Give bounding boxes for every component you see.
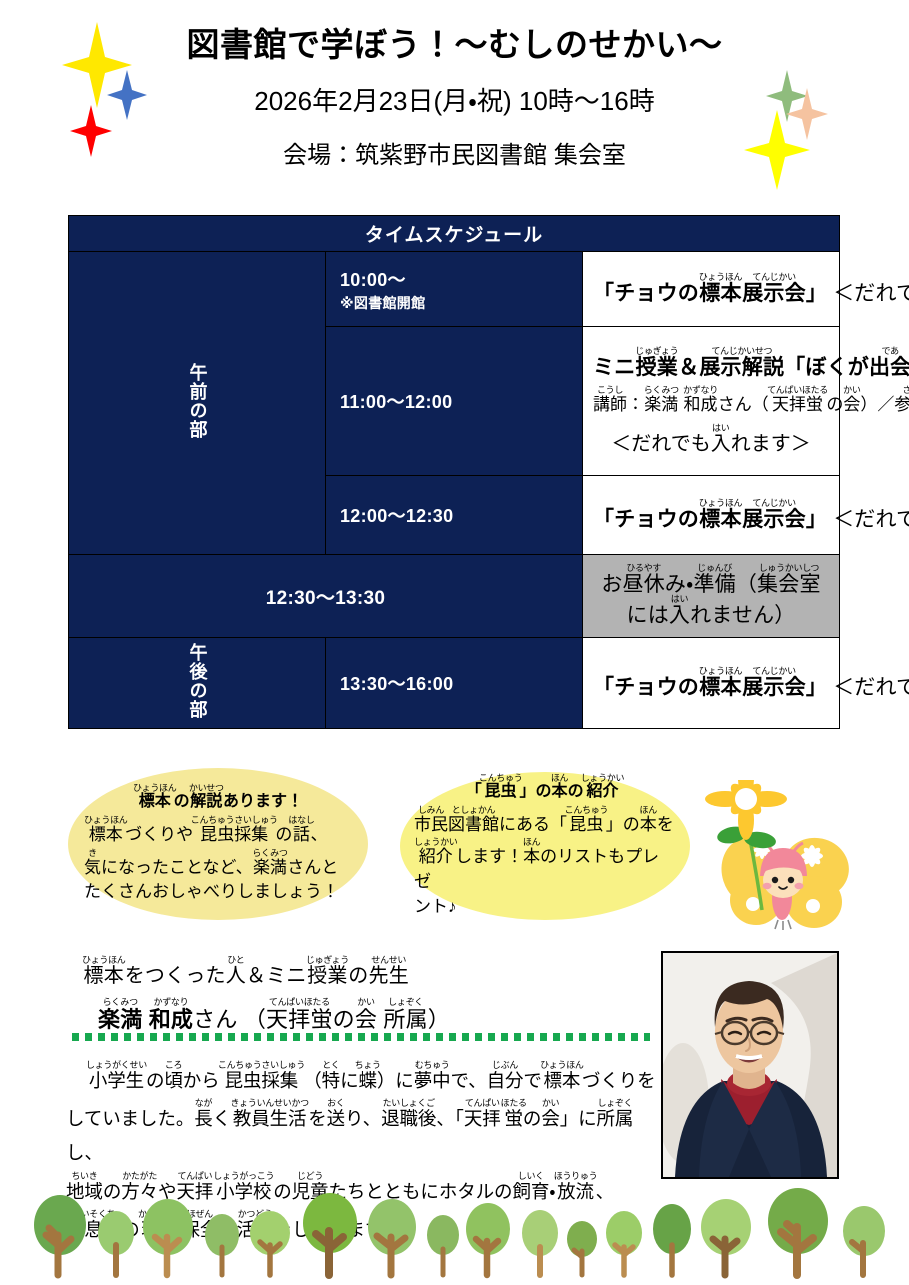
- event-date: 2026年2月23日(月・祝) 10時～16時: [0, 81, 909, 118]
- bubble-1-line-3: たくさんおしゃべりしましょう！: [84, 880, 352, 905]
- content-cell-3: 「チョウの標本ひょうほん展示会てんじかい」 ＜だれでも入はいれます＞: [583, 476, 840, 555]
- exhibit-title-2: 「チョウの標本ひょうほん展示会てんじかい」 ＜だれでも入はいれます＞: [593, 498, 829, 533]
- info-bubble-books: 「昆虫こんちゅう」の本ほんの紹介しょうかい 市民しみん図書館としょかんにある「昆…: [400, 772, 690, 920]
- instructor-role: 標本ひょうほんをつくった人ひと＆ミニ授業じゅぎょうの先生せんせい: [78, 955, 638, 988]
- bubble-2-line-1: 市民しみん図書館としょかんにある「昆虫こんちゅう」の本ほんを: [414, 805, 676, 838]
- instructor-name: 楽満らくみつ 和成かずなりさん （天拝蛍てんぱいほたるの会かい 所属しょぞく）: [78, 997, 638, 1034]
- table-row: 午前の部 10:00～ ※図書館開館 「チョウの標本ひょうほん展示会てんじかい」…: [69, 252, 840, 327]
- lunch-break-text: お昼休ひるやすみ・準備じゅんび（集会室しゅうかいしつには入はいれません）: [593, 563, 829, 629]
- bio-line-2: していました。長ながく教員生活きょういんせいかつを送おくり、退職後たいしょくご、…: [66, 1098, 656, 1170]
- bubble-2-line-3: ント♪: [414, 895, 676, 920]
- bubble-1-line-2: 気きになったことなど、楽満らくみつさんと: [84, 848, 352, 881]
- bubble-1-line-1: 標本ひょうほんづくりや昆虫採集こんちゅうさいしゅうの話はなし、: [84, 815, 352, 848]
- time-cell-3: 12:00～12:30: [326, 476, 583, 555]
- bubble-1-title: 標本ひょうほんの解説かいせつあります！: [133, 783, 303, 811]
- instructor-photo: [661, 951, 839, 1179]
- table-row-lunch: 12:30～13:30 お昼休ひるやすみ・準備じゅんび（集会室しゅうかいしつには…: [69, 555, 840, 638]
- time-cell-lunch: 12:30～13:30: [69, 555, 583, 638]
- time-schedule-table: タイムスケジュール 午前の部 10:00～ ※図書館開館 「チョウの標本ひょうほ…: [68, 215, 840, 729]
- page-title: 図書館で学ぼう！～むしのせかい～: [0, 26, 909, 64]
- schedule-title: タイムスケジュール: [69, 216, 840, 252]
- poster-header: 図書館で学ぼう！～むしのせかい～ 2026年2月23日(月・祝) 10時～16時…: [0, 0, 909, 170]
- poster-page: 図書館で学ぼう！～むしのせかい～ 2026年2月23日(月・祝) 10時～16時…: [0, 0, 909, 1285]
- instructor-profile-heading: 標本ひょうほんをつくった人ひと＆ミニ授業じゅぎょうの先生せんせい 楽満らくみつ …: [78, 955, 638, 1034]
- bubble-2-body: 市民しみん図書館としょかんにある「昆虫こんちゅう」の本ほんを 紹介しょうかいしま…: [414, 805, 676, 920]
- time-cell-2: 11:00～12:00: [326, 327, 583, 476]
- table-row: 午後の部 13:30～16:00 「チョウの標本ひょうほん展示会てんじかい」 ＜…: [69, 638, 840, 729]
- time-cell-1: 10:00～ ※図書館開館: [326, 252, 583, 327]
- exhibit-title-1: 「チョウの標本ひょうほん展示会てんじかい」 ＜だれでも入はいれます＞: [593, 272, 829, 307]
- info-bubble-specimen: 標本ひょうほんの解説かいせつあります！ 標本ひょうほんづくりや昆虫採集こんちゅう…: [68, 768, 368, 920]
- content-cell-5: 「チョウの標本ひょうほん展示会てんじかい」 ＜だれでも入はいれます＞: [583, 638, 840, 729]
- green-dotted-divider: [72, 1033, 650, 1041]
- time-cell-5: 13:30～16:00: [326, 638, 583, 729]
- lecture-title: ミニ授業じゅぎょう＆展示解説てんじかいせつ「ぼくが出会であったむしたち」: [593, 346, 829, 381]
- part-label-morning: 午前の部: [69, 252, 326, 555]
- event-venue: 会場：筑紫野市民図書館 集会室: [0, 135, 909, 170]
- exhibit-title-3: 「チョウの標本ひょうほん展示会てんじかい」 ＜だれでも入はいれます＞: [593, 666, 829, 701]
- bubble-1-body: 標本ひょうほんづくりや昆虫採集こんちゅうさいしゅうの話はなし、 気きになったこと…: [84, 815, 352, 905]
- content-cell-1: 「チョウの標本ひょうほん展示会てんじかい」 ＜だれでも入はいれます＞: [583, 252, 840, 327]
- bio-line-1: 小学生しょうがくせいの頃ころから昆虫採集こんちゅうさいしゅう（特とくに蝶ちょう）…: [66, 1060, 656, 1098]
- part-label-afternoon: 午後の部: [69, 638, 326, 729]
- open-to-all-note-2: ＜だれでも入はいれます＞: [593, 423, 829, 456]
- bubble-2-title: 「昆虫こんちゅう」の本ほんの紹介しょうかい: [466, 773, 624, 801]
- content-cell-lunch: お昼休ひるやすみ・準備じゅんび（集会室しゅうかいしつには入はいれません）: [583, 555, 840, 638]
- lecturer-info: 講師こうし：楽満らくみつ 和成かずなりさん（天拝蛍てんぱいほたるの会かい）／参加…: [593, 385, 829, 415]
- content-cell-2: ミニ授業じゅぎょう＆展示解説てんじかいせつ「ぼくが出会であったむしたち」 講師こ…: [583, 327, 840, 476]
- flower-butterfly-illustration: [694, 780, 864, 940]
- tree-border-decoration: [0, 1187, 909, 1279]
- butterfly-icon: [713, 829, 855, 930]
- bubble-2-line-2: 紹介しょうかいします！本ほんのリストもプレゼ: [414, 837, 676, 894]
- schedule-header-row: タイムスケジュール: [69, 216, 840, 252]
